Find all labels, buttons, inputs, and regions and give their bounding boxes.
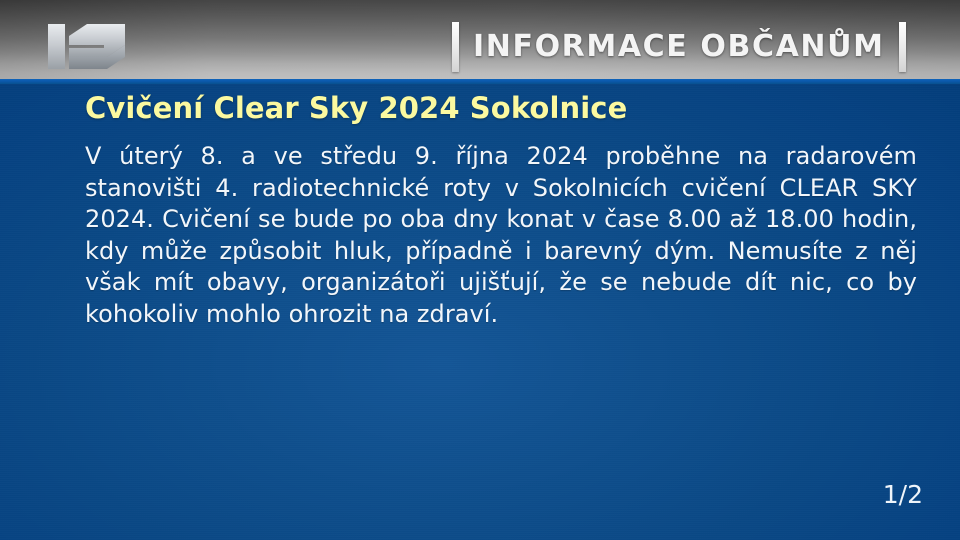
page-indicator: 1/2: [883, 482, 923, 507]
slide-body-text: V úterý 8. a ve středu 9. října 2024 pro…: [85, 141, 917, 330]
slide-title: Cvičení Clear Sky 2024 Sokolnice: [85, 92, 917, 125]
is-logo-icon: [47, 23, 127, 70]
slide-content: Cvičení Clear Sky 2024 Sokolnice V úterý…: [85, 92, 917, 330]
header-accent-rule: [0, 79, 960, 84]
banner-title-group: INFORMACE OBČANŮM: [452, 18, 906, 76]
slide-root: INFORMACE OBČANŮM Cvičení Clear Sky 2024…: [0, 0, 960, 540]
banner-right-bar-icon: [899, 22, 906, 72]
banner-title: INFORMACE OBČANŮM: [473, 32, 885, 62]
banner-left-bar-icon: [452, 22, 459, 72]
